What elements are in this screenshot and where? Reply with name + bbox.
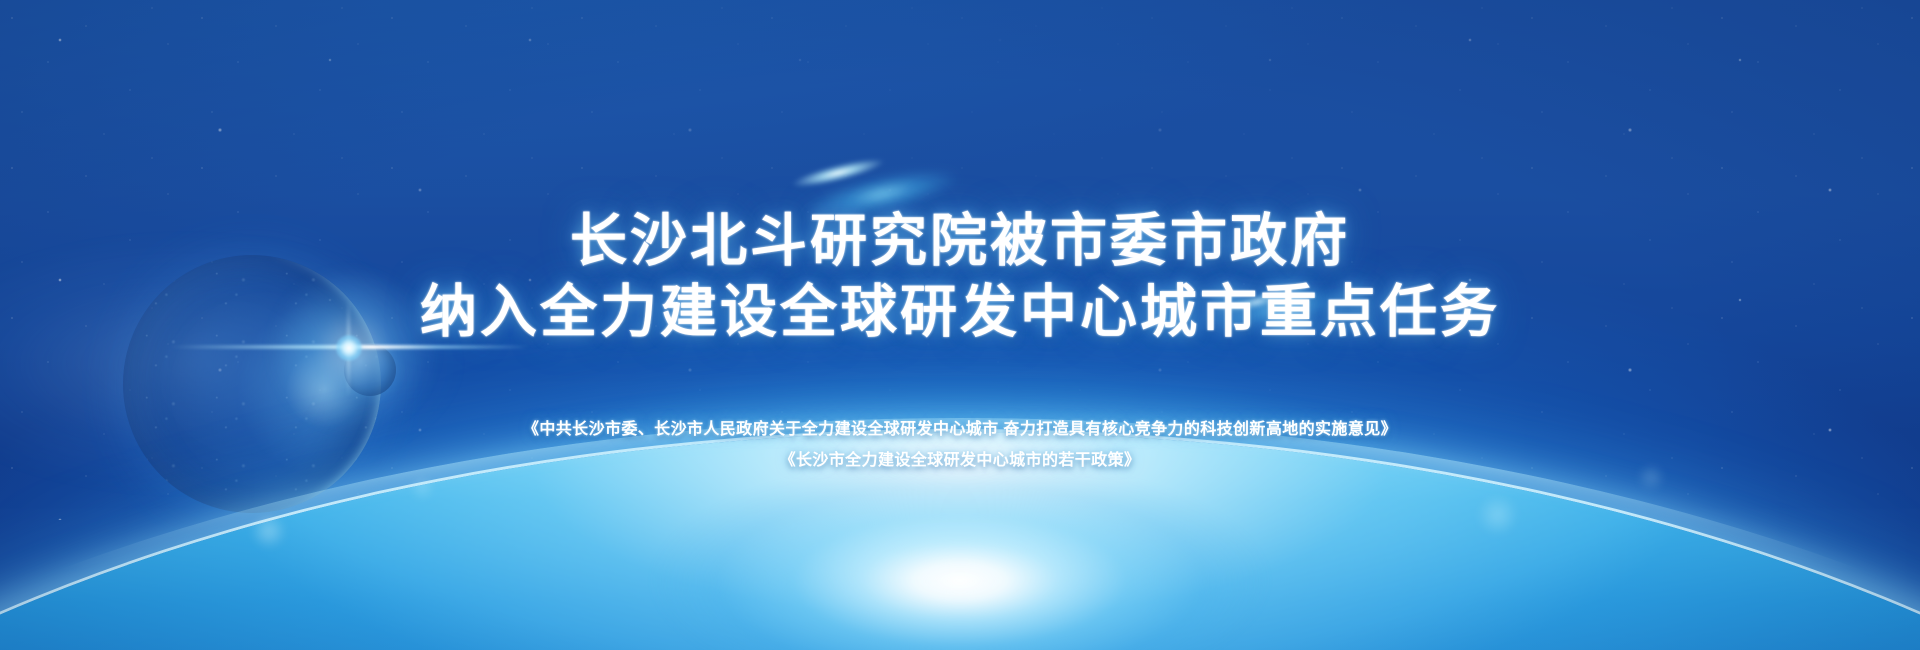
subtitle-policy-opinion: 《中共长沙市委、长沙市人民政府关于全力建设全球研发中心城市 奋力打造具有核心竞争… [523, 414, 1397, 445]
subtitle-policy-measures: 《长沙市全力建设全球研发中心城市的若干政策》 [523, 445, 1397, 476]
subtitle-group: 《中共长沙市委、长沙市人民政府关于全力建设全球研发中心城市 奋力打造具有核心竞争… [523, 414, 1397, 476]
page-title: 长沙北斗研究院被市委市政府 纳入全力建设全球研发中心城市重点任务 [420, 206, 1500, 347]
promo-banner: 0 1 0 1 1 0 1 0 0 1 0 1 0 1 1 0 0 1 1 0 … [0, 0, 1920, 650]
banner-content: 长沙北斗研究院被市委市政府 纳入全力建设全球研发中心城市重点任务 《中共长沙市委… [0, 0, 1920, 650]
headline-line-2: 纳入全力建设全球研发中心城市重点任务 [420, 277, 1500, 348]
headline-line-1: 长沙北斗研究院被市委市政府 [420, 206, 1500, 277]
